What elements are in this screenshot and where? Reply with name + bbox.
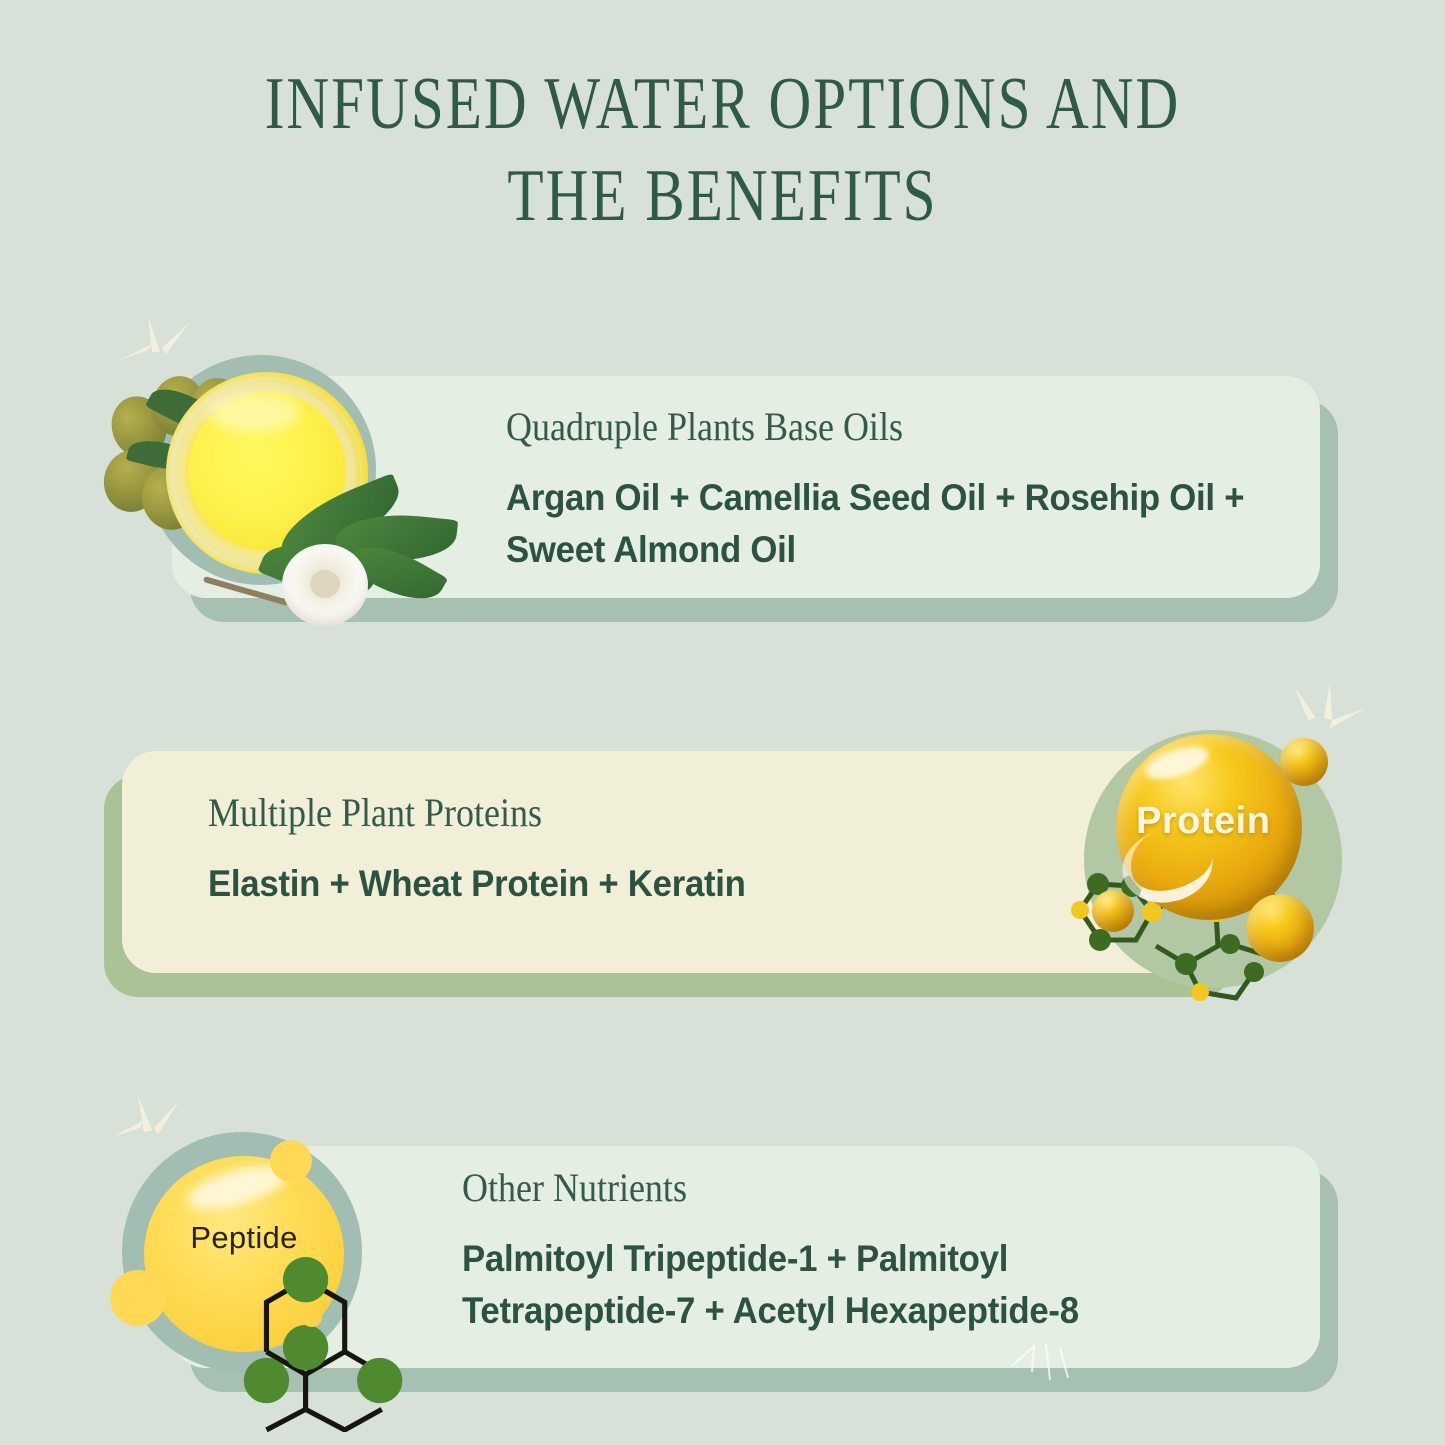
sparkle-icon (1290, 678, 1380, 738)
card-1-heading: Quadruple Plants Base Oils (506, 404, 1244, 450)
card-2-heading: Multiple Plant Proteins (208, 790, 982, 836)
infographic-page: Infused Water Options And The Benefits Q… (0, 0, 1445, 1445)
protein-label: Protein (1040, 800, 1370, 843)
oil-surface-highlight (208, 392, 300, 432)
page-title-line-2: The Benefits (145, 150, 1301, 242)
card-1-text: Quadruple Plants Base Oils Argan Oil + C… (506, 404, 1326, 576)
card-2-text: Multiple Plant Proteins Elastin + Wheat … (208, 790, 1068, 910)
sparkle-icon (112, 1090, 202, 1150)
card-3-heading: Other Nutrients (462, 1165, 1182, 1211)
molecule-dot (301, 1306, 322, 1327)
protein-sphere-small (1280, 738, 1328, 786)
outline-sparkle-icon (1010, 1340, 1090, 1392)
sparkle-icon (118, 308, 208, 368)
protein-sphere-small (1092, 890, 1134, 932)
protein-sphere-small (1246, 894, 1314, 962)
page-title-line-1: Infused Water Options And (145, 58, 1301, 150)
card-3-body: Palmitoyl Tripeptide-1 + Palmitoyl Tetra… (462, 1233, 1214, 1337)
sparkle-rays (1290, 678, 1380, 738)
card-2-body: Elastin + Wheat Protein + Keratin (208, 858, 1016, 910)
sparkle-rays (112, 1090, 202, 1150)
page-title: Infused Water Options And The Benefits (0, 58, 1445, 242)
card-3-text: Other Nutrients Palmitoyl Tripeptide-1 +… (462, 1165, 1262, 1337)
card-1-body: Argan Oil + Camellia Seed Oil + Rosehip … (506, 472, 1277, 576)
camellia-flower (282, 544, 368, 626)
sparkle-rays (118, 308, 208, 368)
